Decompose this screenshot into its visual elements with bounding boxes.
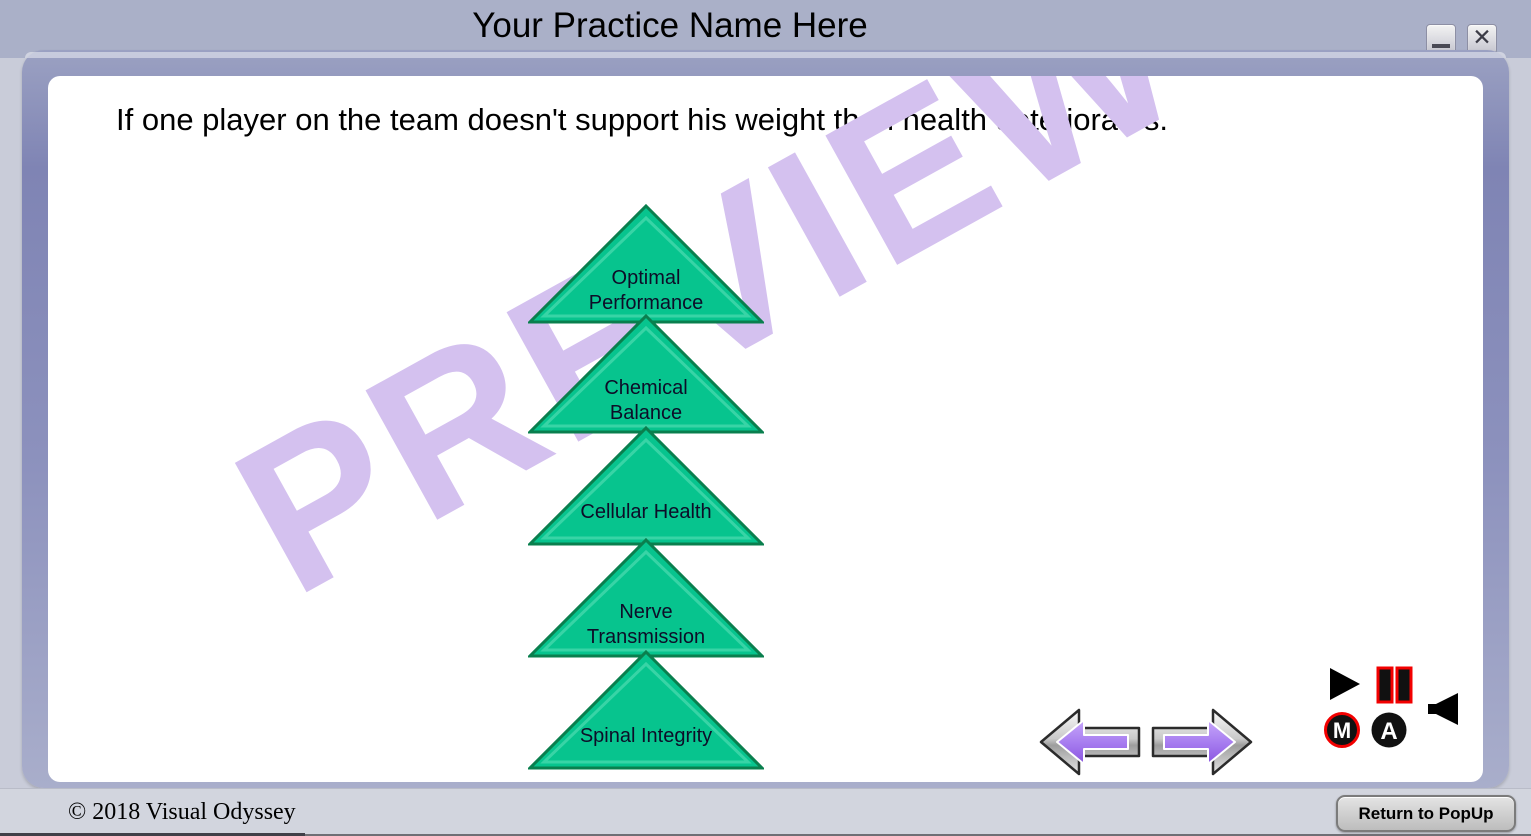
previous-button[interactable] bbox=[1038, 706, 1142, 778]
pyramid-level-cellular-health[interactable]: Cellular Health bbox=[528, 426, 764, 548]
footer-bar: © 2018 Visual Odyssey Return to PopUp bbox=[0, 788, 1531, 836]
page-title: Your Practice Name Here bbox=[0, 6, 1340, 46]
frame-highlight bbox=[25, 52, 1506, 58]
pyramid-level-chemical-balance[interactable]: Chemical Balance bbox=[528, 314, 764, 436]
pyramid-level-spinal-integrity[interactable]: Spinal Integrity bbox=[528, 650, 764, 772]
mute-button[interactable]: M bbox=[1323, 711, 1361, 754]
health-pyramid: Optimal Performance Chemical Balance bbox=[528, 204, 828, 782]
slide-headline: If one player on the team doesn't suppor… bbox=[116, 102, 1168, 138]
application-window: Your Practice Name Here ✕ If one player … bbox=[0, 0, 1531, 836]
autoplay-letter: A bbox=[1380, 718, 1397, 745]
copyright-text: © 2018 Visual Odyssey bbox=[68, 799, 296, 826]
pyramid-level-optimal-performance[interactable]: Optimal Performance bbox=[528, 204, 764, 326]
play-button[interactable] bbox=[1328, 666, 1362, 707]
return-to-popup-button[interactable]: Return to PopUp bbox=[1336, 795, 1516, 832]
autoplay-button[interactable]: A bbox=[1370, 711, 1408, 754]
speaker-button[interactable] bbox=[1426, 691, 1460, 732]
navigation-arrows bbox=[1038, 706, 1254, 778]
pause-button[interactable] bbox=[1376, 666, 1414, 709]
close-icon: ✕ bbox=[1468, 23, 1496, 51]
media-controls: M A bbox=[1273, 666, 1408, 771]
minimize-icon bbox=[1432, 44, 1450, 48]
mute-letter: M bbox=[1333, 718, 1351, 743]
slide-canvas: If one player on the team doesn't suppor… bbox=[48, 76, 1483, 782]
next-button[interactable] bbox=[1150, 706, 1254, 778]
pyramid-level-nerve-transmission[interactable]: Nerve Transmission bbox=[528, 538, 764, 660]
